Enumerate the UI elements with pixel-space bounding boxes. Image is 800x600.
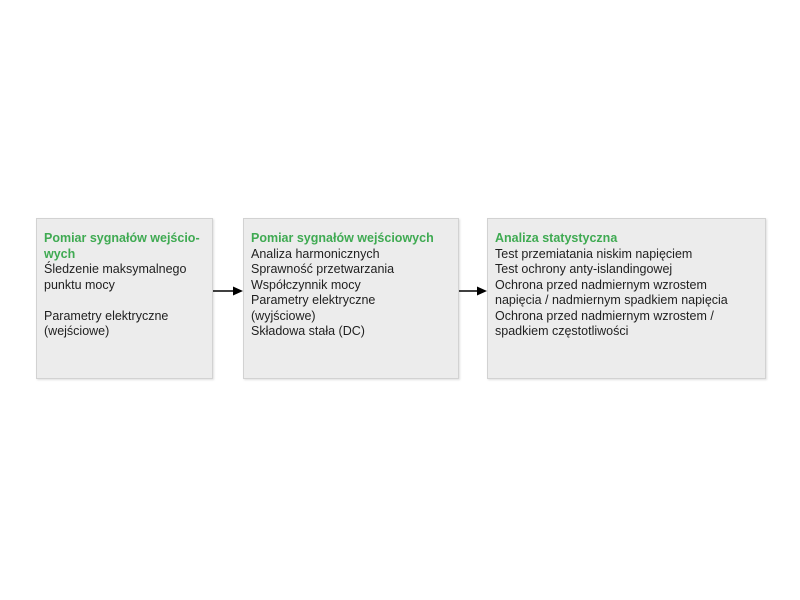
arrow-right-icon bbox=[459, 285, 487, 297]
flow-box-statistical-analysis[interactable]: Analiza statystyczna Test przemiatania n… bbox=[487, 218, 766, 379]
arrow-right-icon bbox=[213, 285, 243, 297]
flow-box-lines-secondary: Parametry elektryczne (wejściowe) bbox=[44, 309, 205, 340]
flow-box-line-gap bbox=[44, 293, 205, 309]
arrow-box2-to-box3 bbox=[459, 285, 487, 297]
arrow-box1-to-box2 bbox=[213, 285, 243, 297]
diagram-canvas: Pomiar sygnałów wejścio- wych Śledzenie … bbox=[0, 0, 800, 600]
flow-box-lines-primary: Test przemiatania niskim napięciem Test … bbox=[495, 247, 758, 340]
flow-box-lines-primary: Analiza harmonicznych Sprawność przetwar… bbox=[251, 247, 451, 340]
flow-box-input-signal-measurement[interactable]: Pomiar sygnałów wejścio- wych Śledzenie … bbox=[36, 218, 213, 379]
flow-box-lines-primary: Śledzenie maksymalnego punktu mocy bbox=[44, 262, 205, 293]
flow-box-heading: Pomiar sygnałów wejściowych bbox=[251, 231, 451, 247]
flow-box-input-signal-measurement-detail[interactable]: Pomiar sygnałów wejściowych Analiza harm… bbox=[243, 218, 459, 379]
flow-box-heading: Pomiar sygnałów wejścio- wych bbox=[44, 231, 205, 262]
flow-box-heading: Analiza statystyczna bbox=[495, 231, 758, 247]
